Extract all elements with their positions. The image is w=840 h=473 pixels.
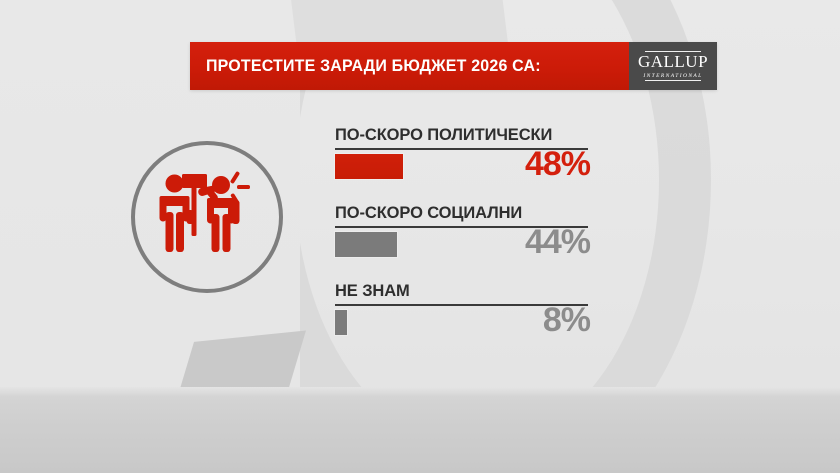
background-band-sheen (0, 387, 840, 397)
result-bar-political (335, 154, 403, 179)
result-row-social: ПО-СКОРО СОЦИАЛНИ 44% (335, 203, 590, 264)
result-value-political: 48% (525, 144, 590, 184)
result-bar-social (335, 232, 397, 257)
protesters-icon (155, 166, 259, 270)
background-bottom-band (0, 387, 840, 473)
infographic-slide: ПРОТЕСТИТЕ ЗАРАДИ БЮДЖЕТ 2026 СА: GALLUP… (0, 0, 840, 473)
result-row-dontknow: НЕ ЗНАМ 8% (335, 281, 590, 342)
row-spacer-1 (335, 186, 590, 203)
result-body: 48% (335, 150, 590, 186)
page-title: ПРОТЕСТИТЕ ЗАРАДИ БЮДЖЕТ 2026 СА: (190, 56, 541, 76)
title-bar-red-panel: ПРОТЕСТИТЕ ЗАРАДИ БЮДЖЕТ 2026 СА: (190, 42, 629, 90)
result-label: ПО-СКОРО ПОЛИТИЧЕСКИ (335, 125, 582, 145)
result-value-dontknow: 8% (543, 300, 590, 340)
gallup-logo-inner: GALLUP INTERNATIONAL (638, 51, 708, 81)
row-spacer-2 (335, 264, 590, 281)
result-body: 8% (335, 306, 590, 342)
gallup-logo: GALLUP INTERNATIONAL (629, 42, 717, 90)
results-list: ПО-СКОРО ПОЛИТИЧЕСКИ 48% ПО-СКОРО СОЦИАЛ… (335, 125, 590, 342)
result-value-social: 44% (525, 222, 590, 262)
title-bar: ПРОТЕСТИТЕ ЗАРАДИ БЮДЖЕТ 2026 СА: GALLUP… (190, 42, 717, 90)
result-label: НЕ ЗНАМ (335, 281, 582, 301)
result-label: ПО-СКОРО СОЦИАЛНИ (335, 203, 582, 223)
logo-rule-bottom (645, 80, 701, 81)
result-row-political: ПО-СКОРО ПОЛИТИЧЕСКИ 48% (335, 125, 590, 186)
result-body: 44% (335, 228, 590, 264)
result-bar-dontknow (335, 310, 347, 335)
logo-wordmark: GALLUP (638, 52, 708, 72)
logo-subtitle: INTERNATIONAL (643, 72, 702, 80)
